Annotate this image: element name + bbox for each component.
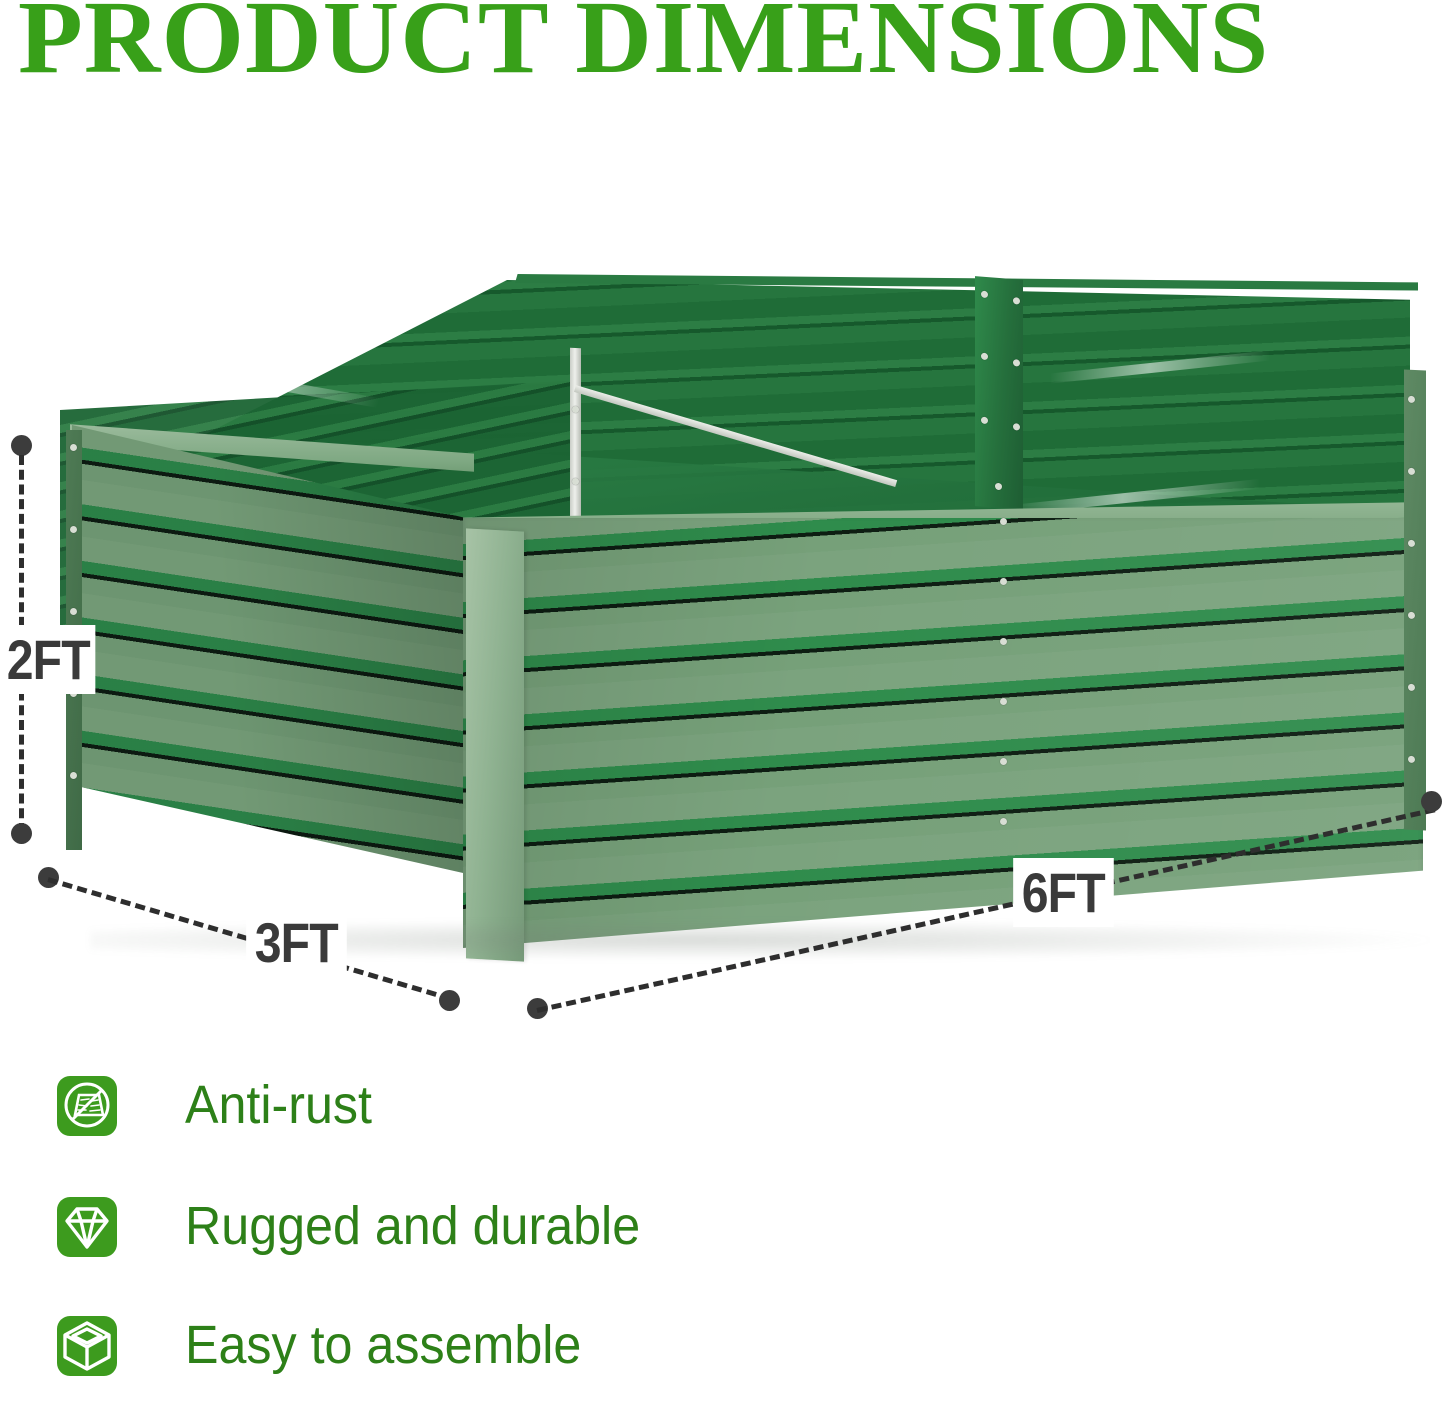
rivet [981,291,988,299]
rivet [70,526,77,533]
rivet [1000,698,1007,705]
feature-label: Easy to assemble [185,1314,581,1376]
rivet [1408,756,1415,763]
dimension-endpoint-dot [439,990,460,1011]
feature-list: Anti-rust Rugged and durable [0,1062,1445,1398]
rivet [70,444,77,451]
rivet [1000,758,1007,765]
front-side-panel [463,518,1423,948]
rivet [1408,540,1415,547]
product-illustration [0,230,1445,1020]
dimension-label-height: 2FT [2,625,95,694]
rivet [1408,396,1415,403]
rivet [981,417,988,425]
feature-item-rugged: Rugged and durable [0,1174,1445,1286]
dimension-endpoint-dot [11,435,32,456]
dimension-label-width: 6FT [1013,858,1113,927]
diamond-icon [57,1197,117,1257]
rivet [1408,468,1415,475]
rivet [1000,518,1007,525]
page-title: PRODUCT DIMENSIONS [18,0,1445,84]
rivet [1000,578,1007,585]
rivet [1000,818,1007,825]
dimension-endpoint-dot [11,823,32,844]
dimension-label-depth: 3FT [246,908,346,977]
rivet [70,608,77,615]
feature-label: Anti-rust [185,1074,372,1136]
feature-item-assemble: Easy to assemble [0,1286,1445,1398]
rivet [1013,423,1020,431]
front-right-corner-post [1404,370,1426,831]
rivet [572,478,579,485]
rivet [995,483,1002,491]
center-support-post [975,276,1023,510]
feature-item-anti-rust: Anti-rust [0,1062,1445,1174]
no-rust-icon [57,1076,117,1136]
cube-box-icon [57,1316,117,1376]
rivet [1408,684,1415,691]
front-left-corner-post [466,528,524,961]
feature-label: Rugged and durable [185,1195,640,1257]
rivet [70,772,77,779]
rivet [981,353,988,361]
rivet [1000,638,1007,645]
dimension-endpoint-dot [1421,791,1442,812]
rivet [572,406,579,413]
rivet [1408,612,1415,619]
product-dimensions-infographic: PRODUCT DIMENSIONS [0,0,1445,1414]
rivet [1013,359,1020,367]
rivet [1013,297,1020,305]
